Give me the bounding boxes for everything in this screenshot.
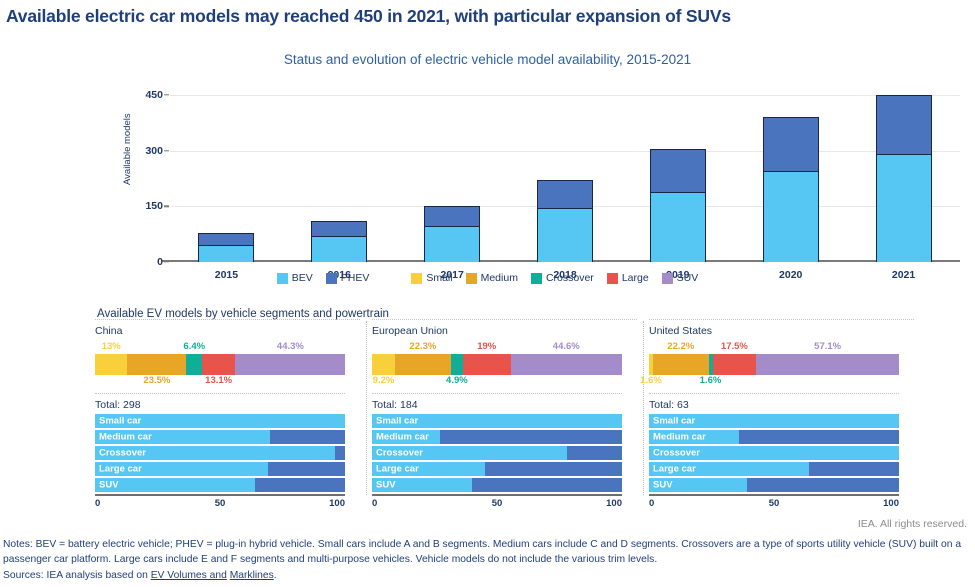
segment-piece-crossover [186, 354, 202, 375]
segment-pct-label-medium: 22.2% [667, 341, 694, 352]
segment-piece-small [372, 354, 395, 375]
powertrain-bar-label: Medium car [653, 431, 706, 442]
legend-label: Medium [481, 272, 518, 284]
panel-divider [643, 321, 644, 495]
powertrain-bar-label: SUV [99, 479, 119, 490]
bar-segment-bev [763, 171, 819, 262]
powertrain-bar-row: Large car [372, 462, 622, 476]
total-label: Total: 184 [372, 399, 637, 411]
legend-item-small[interactable]: Small [411, 272, 452, 284]
y-axis-tick-mark [164, 94, 169, 95]
bar-column: 2016 [311, 221, 367, 262]
bar-segment-bev [537, 208, 593, 262]
gridline [170, 95, 960, 96]
y-axis-tick-mark [164, 261, 169, 262]
bar-segment-phev [198, 233, 254, 245]
segment-piece-medium [653, 354, 709, 375]
segment-labels-below: 1.6%1.6% [649, 375, 914, 388]
panel-mid-rule [372, 393, 622, 394]
source-link-ev-volumes[interactable]: EV Volumes and [151, 570, 227, 581]
bar-segment-phev [650, 149, 706, 192]
chart-legend: BEVPHEVSmallMediumCrossoverLargeSUV [0, 272, 975, 284]
panel-mid-rule [649, 393, 899, 394]
bar-column: 2021 [876, 95, 932, 262]
powertrain-x-axis: 050100 [372, 494, 622, 496]
legend-item-bev[interactable]: BEV [277, 272, 313, 284]
legend-label: SUV [677, 272, 699, 284]
segment-share-bar [95, 354, 345, 375]
panel-top-rule [372, 319, 637, 320]
total-label: Total: 63 [649, 399, 914, 411]
powertrain-bar-row: Large car [95, 462, 345, 476]
powertrain-x-axis: 050100 [649, 494, 899, 496]
legend-swatch-icon [466, 273, 477, 284]
segment-piece-large [713, 354, 757, 375]
legend-item-phev[interactable]: PHEV [326, 272, 370, 284]
powertrain-bar-label: Large car [376, 463, 419, 474]
powertrain-x-tick-label: 50 [769, 498, 780, 509]
bar-column: 2020 [763, 117, 819, 262]
bar-segment-phev [424, 206, 480, 226]
segment-pct-label-suv: 44.6% [553, 341, 580, 352]
powertrain-bar-label: Crossover [376, 447, 423, 458]
powertrain-bar-label: Crossover [653, 447, 700, 458]
segment-pct-label-large: 17.5% [721, 341, 748, 352]
legend-swatch-icon [411, 273, 422, 284]
powertrain-bar-label: Small car [376, 415, 418, 426]
region-panels: China13%6.4%44.3%23.5%13.1%Total: 298Sma… [95, 325, 915, 505]
y-axis-tick-label: 0 [157, 256, 163, 268]
segment-pct-label-suv: 44.3% [277, 341, 304, 352]
bar-segment-phev [537, 180, 593, 208]
region-panel-european-union: European Union22.3%19%44.6%9.2%4.9%Total… [372, 325, 637, 505]
segment-pct-label-small: 1.6% [640, 375, 662, 386]
legend-item-medium[interactable]: Medium [466, 272, 518, 284]
powertrain-x-tick-label: 100 [883, 498, 899, 509]
sources-prefix: Sources: IEA analysis based on [3, 570, 151, 581]
powertrain-bar-row: Crossover [372, 446, 622, 460]
region-name: European Union [372, 325, 637, 339]
segment-labels-above: 22.2%17.5%57.1% [649, 341, 914, 354]
segment-labels-above: 22.3%19%44.6% [372, 341, 637, 354]
bar-segment-bev [876, 154, 932, 262]
plot-area: 01503004502015201620172018201920202021 [170, 95, 960, 262]
legend-item-suv[interactable]: SUV [662, 272, 699, 284]
segment-piece-large [202, 354, 235, 375]
powertrain-bar-label: Small car [99, 415, 141, 426]
powertrain-x-tick-label: 0 [95, 498, 100, 509]
segment-labels-below: 23.5%13.1% [95, 375, 360, 388]
powertrain-bar-bev [95, 478, 255, 492]
y-axis-tick-label: 150 [145, 200, 163, 212]
segment-pct-label-crossover: 4.9% [446, 375, 468, 386]
stacked-bar-chart: Available models 01503004502015201620172… [0, 80, 975, 290]
powertrain-bar-row: Large car [649, 462, 899, 476]
legend-swatch-icon [531, 273, 542, 284]
gridline [170, 151, 960, 152]
powertrain-bar-row: SUV [95, 478, 345, 492]
powertrain-bar-row: SUV [372, 478, 622, 492]
powertrain-bar-row: Medium car [649, 430, 899, 444]
region-name: United States [649, 325, 914, 339]
segment-pct-label-medium: 23.5% [143, 375, 170, 386]
segment-piece-small [95, 354, 127, 375]
powertrain-x-tick-label: 50 [492, 498, 503, 509]
powertrain-bar-row: Medium car [95, 430, 345, 444]
powertrain-bar-row: Medium car [372, 430, 622, 444]
page-title: Available electric car models may reache… [6, 6, 966, 27]
segment-pct-label-suv: 57.1% [814, 341, 841, 352]
region-panel-united-states: United States22.2%17.5%57.1%1.6%1.6%Tota… [649, 325, 914, 505]
segment-pct-label-crossover: 6.4% [183, 341, 205, 352]
powertrain-bar-row: Crossover [95, 446, 345, 460]
powertrain-bar-row: Small car [649, 414, 899, 428]
legend-label: Large [622, 272, 649, 284]
y-axis-title: Available models [122, 113, 133, 185]
segment-pct-label-large: 13.1% [205, 375, 232, 386]
bar-segment-bev [650, 192, 706, 262]
segment-labels-below: 9.2%4.9% [372, 375, 637, 388]
total-label: Total: 298 [95, 399, 360, 411]
legend-swatch-icon [607, 273, 618, 284]
segment-labels-above: 13%6.4%44.3% [95, 341, 360, 354]
powertrain-x-tick-label: 100 [606, 498, 622, 509]
panel-divider [366, 321, 367, 495]
legend-swatch-icon [277, 273, 288, 284]
panel-top-rule [95, 319, 360, 320]
region-name: China [95, 325, 360, 339]
bar-segment-bev [424, 226, 480, 262]
powertrain-bar-row: Small car [95, 414, 345, 428]
bar-segment-bev [311, 236, 367, 262]
region-panel-china: China13%6.4%44.3%23.5%13.1%Total: 298Sma… [95, 325, 360, 505]
chart-subtitle: Status and evolution of electric vehicle… [0, 52, 975, 67]
powertrain-bar-label: SUV [376, 479, 396, 490]
powertrain-bar-label: Medium car [376, 431, 429, 442]
segment-piece-suv [235, 354, 345, 375]
powertrain-bar-label: Small car [653, 415, 695, 426]
sources-line: Sources: IEA analysis based on EV Volume… [3, 570, 277, 581]
segment-piece-suv [756, 354, 899, 375]
legend-swatch-icon [326, 273, 337, 284]
powertrain-x-axis: 050100 [95, 494, 345, 496]
legend-label: PHEV [341, 272, 370, 284]
bar-segment-phev [876, 95, 932, 154]
bar-segment-bev [198, 245, 254, 262]
legend-label: Crossover [546, 272, 594, 284]
powertrain-x-tick-label: 100 [329, 498, 345, 509]
powertrain-x-tick-label: 0 [372, 498, 377, 509]
panel-top-rule [649, 319, 914, 320]
source-link-marklines[interactable]: Marklines [230, 570, 274, 581]
bar-column: 2015 [198, 233, 254, 262]
powertrain-bar-row: Small car [372, 414, 622, 428]
bar-column: 2019 [650, 149, 706, 262]
notes-text: Notes: BEV = battery electric vehicle; P… [3, 538, 971, 567]
powertrain-bar-label: Large car [99, 463, 142, 474]
segment-share-bar [649, 354, 899, 375]
y-axis-tick-label: 300 [145, 145, 163, 157]
bar-column: 2018 [537, 180, 593, 262]
sources-suffix: . [274, 570, 277, 581]
panel-mid-rule [95, 393, 345, 394]
powertrain-bar-row: SUV [649, 478, 899, 492]
segment-pct-label-crossover: 1.6% [700, 375, 722, 386]
segment-pct-label-medium: 22.3% [409, 341, 436, 352]
segment-piece-medium [395, 354, 451, 375]
powertrain-bar-label: SUV [653, 479, 673, 490]
powertrain-bar-label: Large car [653, 463, 696, 474]
segment-piece-large [463, 354, 511, 375]
segment-pct-label-large: 19% [477, 341, 496, 352]
powertrain-bar-row: Crossover [649, 446, 899, 460]
y-axis-tick-mark [164, 150, 169, 151]
segment-pct-label-small: 13% [102, 341, 121, 352]
bar-segment-phev [311, 221, 367, 236]
bar-segment-phev [763, 117, 819, 171]
y-axis-tick-mark [164, 206, 169, 207]
segment-pct-label-small: 9.2% [373, 375, 395, 386]
segment-piece-suv [511, 354, 623, 375]
bar-column: 2017 [424, 206, 480, 262]
segment-piece-medium [127, 354, 186, 375]
segment-piece-crossover [451, 354, 463, 375]
rights-notice: IEA. All rights reserved. [858, 518, 967, 530]
legend-item-large[interactable]: Large [607, 272, 649, 284]
segment-share-bar [372, 354, 622, 375]
legend-label: BEV [292, 272, 313, 284]
powertrain-x-tick-label: 0 [649, 498, 654, 509]
legend-label: Small [426, 272, 452, 284]
y-axis-tick-label: 450 [145, 89, 163, 101]
powertrain-bar-label: Medium car [99, 431, 152, 442]
legend-swatch-icon [662, 273, 673, 284]
powertrain-bar-label: Crossover [99, 447, 146, 458]
powertrain-x-tick-label: 50 [215, 498, 226, 509]
legend-item-crossover[interactable]: Crossover [531, 272, 594, 284]
